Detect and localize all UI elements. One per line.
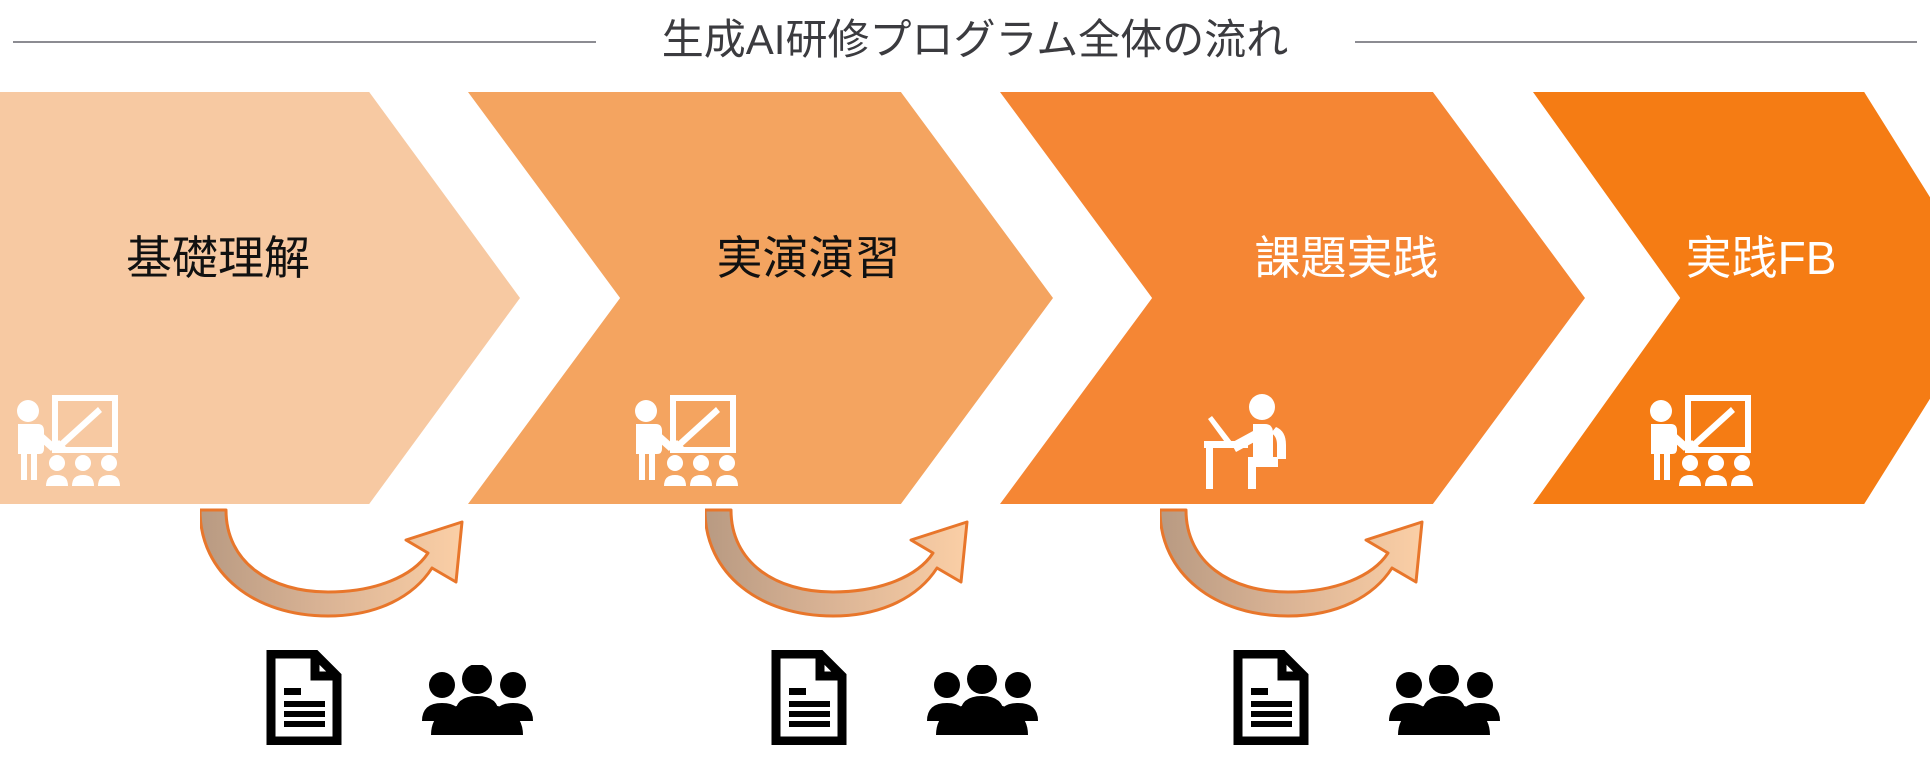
document-icon — [770, 650, 848, 750]
process-stage-3[interactable]: 課題実践 — [1000, 92, 1585, 504]
process-stage-2[interactable]: 実演演習 — [468, 92, 1053, 504]
person-at-desk-icon — [1196, 391, 1306, 496]
page-title: 生成AI研修プログラム全体の流れ — [600, 8, 1350, 72]
people-group-icon — [1387, 665, 1502, 742]
header-rule-right — [1355, 41, 1917, 43]
deliverables-band — [0, 645, 1930, 775]
header-rule-left — [13, 41, 596, 43]
curved-up-arrow-icon — [1160, 504, 1460, 634]
people-group-icon — [420, 665, 535, 742]
curved-up-arrow-icon — [200, 504, 500, 634]
curved-up-arrow-icon — [705, 504, 1005, 634]
process-stage-4[interactable]: 実践FB — [1533, 92, 1930, 504]
document-icon — [1232, 650, 1310, 750]
presenter-classroom-icon — [628, 391, 758, 496]
people-group-icon — [925, 665, 1040, 742]
slide-canvas: 生成AI研修プログラム全体の流れ 基礎理解 — [0, 0, 1930, 775]
slide-header: 生成AI研修プログラム全体の流れ — [0, 0, 1930, 88]
connector-band — [0, 504, 1930, 639]
process-stage-1[interactable]: 基礎理解 — [0, 92, 520, 504]
presenter-classroom-icon — [10, 391, 140, 496]
presenter-classroom-icon — [1643, 391, 1773, 496]
document-icon — [265, 650, 343, 750]
process-chevron-band: 基礎理解 — [0, 92, 1930, 504]
chevron-shape — [468, 92, 1053, 504]
